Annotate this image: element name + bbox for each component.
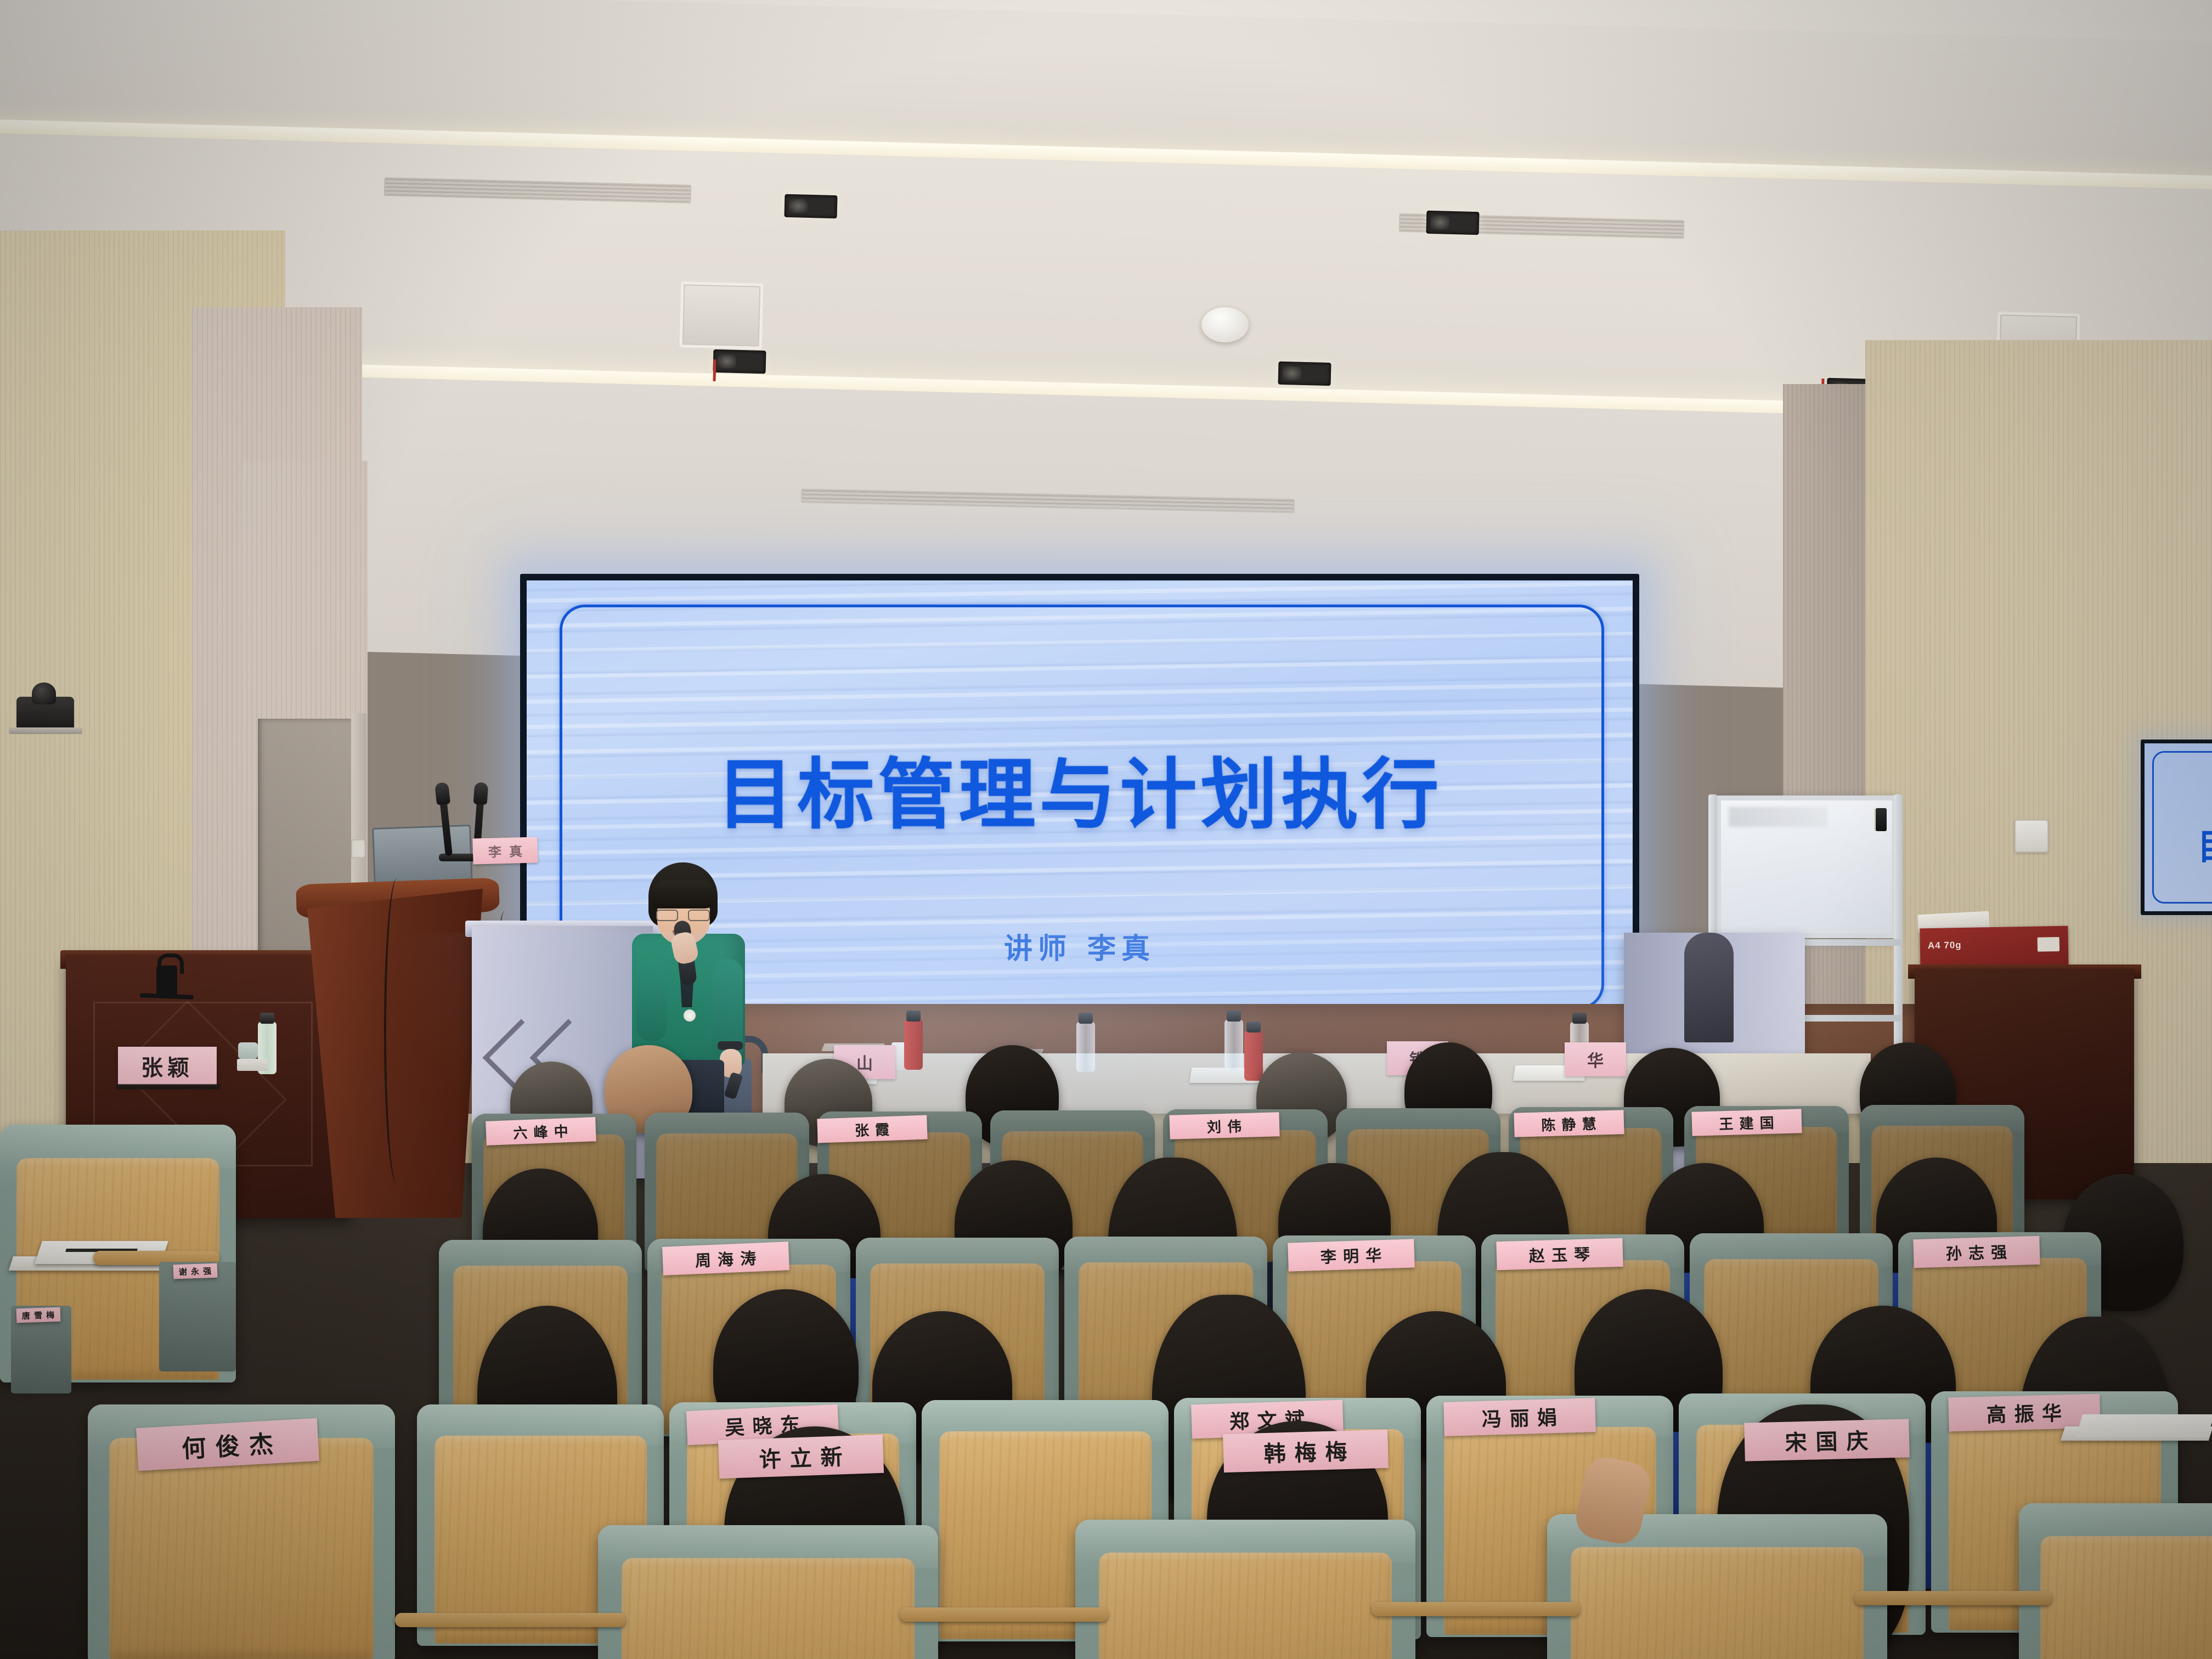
door-hinge <box>351 839 365 858</box>
microphone-head-icon <box>435 782 450 805</box>
podium-name-char-1: 李 <box>488 841 502 861</box>
paper-box-label: A4 70g <box>1928 940 1962 951</box>
name-plate-stand <box>116 1084 221 1090</box>
seat-name-tag: 许 立 新 <box>718 1435 884 1479</box>
handout-document[interactable] <box>2076 1414 2212 1437</box>
microphone-clip-icon[interactable] <box>156 966 177 997</box>
podium-name-char-2: 真 <box>509 840 523 860</box>
seat-name-tag: 陈 静 慧 <box>1514 1110 1624 1137</box>
seat-name-tag: 刘 伟 <box>1169 1112 1279 1139</box>
podium-name-card: 李 真 <box>472 837 538 864</box>
seat-back-wood <box>1099 1553 1391 1659</box>
seat-armrest <box>1372 1602 1580 1616</box>
seat-back-wood <box>622 1558 914 1659</box>
presenter-glasses-icon <box>656 910 712 921</box>
water-bottle[interactable] <box>1076 1022 1095 1072</box>
presenter-left-arm <box>636 959 667 1041</box>
desk-name-plate-text: 张颖 <box>141 1050 194 1082</box>
seat-side-panel <box>159 1262 236 1372</box>
presenter-fringe <box>651 880 716 909</box>
seat-armrest <box>900 1607 1108 1622</box>
sprinkler-pipe <box>713 359 716 381</box>
desk-remote[interactable] <box>237 1059 268 1071</box>
seat-name-tag: 孙 志 强 <box>1913 1236 2040 1268</box>
seat-name-tag: 王 建 国 <box>1691 1109 1802 1136</box>
ceiling-downlight <box>785 194 838 218</box>
seat-number-tag: 唐 雪 梅 <box>16 1307 61 1323</box>
seat-armrest <box>1854 1591 2052 1605</box>
seat-name-tag: 赵 玉 琴 <box>1496 1238 1623 1270</box>
ceiling-downlight <box>713 349 766 374</box>
ceiling-downlight <box>1278 362 1331 386</box>
seat-name-tag: 张 霞 <box>817 1115 927 1143</box>
mobile-whiteboard[interactable] <box>1716 795 1897 938</box>
seat-name-tag: 六 峰 中 <box>486 1117 596 1145</box>
seat-name-tag: 李 明 华 <box>1288 1239 1415 1271</box>
seat-back-wood <box>2040 1536 2212 1659</box>
seat-armrest <box>395 1613 625 1627</box>
seat-back-wood <box>109 1438 374 1659</box>
secondary-wall-monitor: 目 <box>2141 740 2212 915</box>
auditorium-seat[interactable] <box>1075 1520 1415 1659</box>
wall-switch-plate[interactable] <box>2015 820 2049 853</box>
desk-name-plate: 张颖 <box>118 1047 217 1085</box>
auditorium-seat[interactable] <box>2019 1503 2212 1659</box>
seat-name-tag: 冯 丽 娟 <box>1443 1398 1596 1436</box>
seat-back-wood <box>1571 1547 1863 1659</box>
photo-scene: 目标管理与计划执行 讲师 李真 目 李 真 <box>0 0 2212 1659</box>
seat-name-tag: 韩 梅 梅 <box>1223 1430 1389 1472</box>
presenter-blazer-button <box>684 1009 696 1022</box>
seat-name-tag: 宋 国 庆 <box>1744 1419 1910 1461</box>
secondary-monitor-surface: 目 <box>2145 743 2212 911</box>
smoke-detector-icon <box>1201 307 1249 342</box>
desk-puck-device[interactable] <box>238 1042 258 1059</box>
slide-title: 目标管理与计划执行 <box>527 733 1633 844</box>
whiteboard-surface[interactable] <box>1721 800 1892 933</box>
whiteboard-ghost-marks <box>1729 807 1827 827</box>
paper-box-tag <box>2038 937 2059 952</box>
podium-cable <box>384 878 410 1185</box>
seat-name-tag: 周 海 涛 <box>662 1242 789 1276</box>
auditorium-seat[interactable] <box>598 1525 938 1659</box>
secondary-slide-glyph: 目 <box>2197 819 2212 870</box>
seat-number-tag: 谢 永 强 <box>173 1263 218 1279</box>
water-bottle[interactable] <box>904 1019 923 1070</box>
water-bottle[interactable] <box>1224 1019 1243 1070</box>
ceiling-downlight <box>1426 211 1480 235</box>
table-name-card: 华 <box>1565 1042 1626 1076</box>
whiteboard-leg <box>1894 794 1903 1063</box>
wall-camera-icon <box>16 697 74 731</box>
ceiling-square-diffuser <box>680 281 764 349</box>
whiteboard-eraser-icon[interactable] <box>1876 808 1887 831</box>
water-bottle[interactable] <box>1244 1030 1263 1081</box>
right-stage-chair[interactable] <box>1684 933 1734 1042</box>
microphone-head-icon <box>473 782 489 805</box>
